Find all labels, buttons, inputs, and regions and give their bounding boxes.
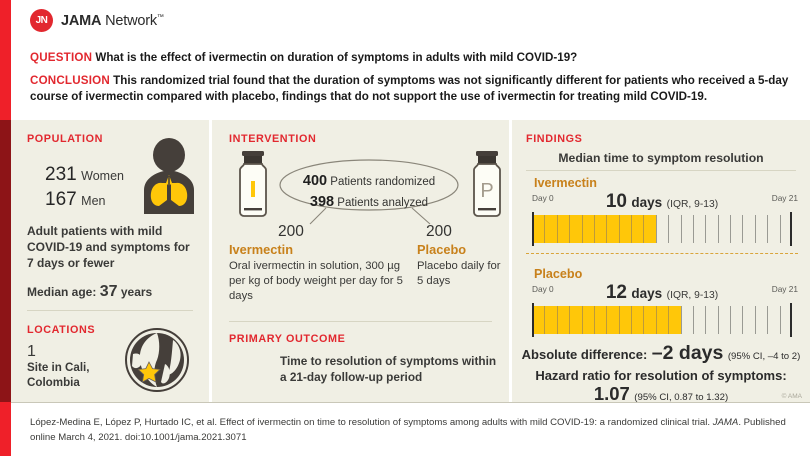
chart-day-segment [718,215,730,243]
conclusion-text: This randomized trial found that the dur… [30,74,788,103]
hazard-ratio-label: Hazard ratio for resolution of symptoms: [512,368,810,383]
placebo-arm-description: Placebo daily for 5 days [417,259,509,289]
svg-text:P: P [480,180,493,202]
population-divider [27,310,193,311]
absolute-difference-row: Absolute difference: –2 days (95% CI, –4… [512,342,810,365]
placebo-unit-label: days [631,286,662,301]
findings-divider [526,170,796,171]
chart-day-segment [693,215,705,243]
chart-day-segment [705,215,717,243]
absolute-difference-label: Absolute difference: [522,347,648,362]
women-count: 231 [45,164,77,185]
placebo-arm-name: Placebo [417,242,466,257]
absolute-difference-ci: (95% CI, –4 to 2) [728,351,801,362]
left-accent-bar-middle [0,120,11,402]
chart-day-segment [742,306,754,334]
chart-day-segment [606,306,618,334]
chart-placebo-bar-area [532,306,792,334]
left-accent-bar-top [0,0,11,120]
chart-placebo-labels: Day 0 Day 21 12 days (IQR, 9-13) [526,284,798,298]
randomized-row: 400 Patients randomized [278,171,460,192]
primary-outcome-text: Time to resolution of symptoms within a … [280,354,500,386]
randomization-counts: 400 Patients randomized 398 Patients ana… [278,171,460,212]
chart-day-segment [582,306,594,334]
locations-site-text: Site in Cali, Colombia [27,360,123,390]
chart-ivermectin-value-label: 10 days (IQR, 9-13) [526,191,798,213]
placebo-median-value: 12 [606,282,627,303]
chart-day-segment [755,306,767,334]
chart-ivermectin-labels: Day 0 Day 21 10 days (IQR, 9-13) [526,193,798,207]
ivermectin-arm-description: Oral ivermectin in solution, 300 µg per … [229,259,409,304]
chart-day-segment [767,215,779,243]
men-count-row: 167 Men [45,189,124,211]
vial-placebo-icon: P [469,150,505,217]
chart-day-segment [619,215,631,243]
randomized-count: 400 [303,173,327,189]
chart-day-segment [693,306,705,334]
primary-outcome-heading: PRIMARY OUTCOME [229,333,345,345]
men-count: 167 [45,189,77,210]
chart-day-segment [594,215,606,243]
placebo-arm-n: 200 [426,223,452,241]
chart-series-label-ivermectin: Ivermectin [534,176,597,190]
randomization-ellipse: 400 Patients randomized 398 Patients ana… [278,158,460,212]
jama-network-logo[interactable]: JN JAMA Network™ [30,9,164,32]
question-text: What is the effect of ivermectin on dura… [95,51,577,64]
chart-day-segment [569,215,581,243]
absolute-difference-value: –2 days [652,342,724,364]
axis-endcap-start [532,303,534,337]
chart-ivermectin-bar-area [532,215,792,243]
median-age-unit: years [121,285,152,299]
trademark-symbol: ™ [157,14,164,21]
chart-day-segment [668,306,680,334]
intervention-divider [229,321,492,322]
randomized-label: Patients randomized [330,176,435,188]
chart-day-segment [606,215,618,243]
findings-heading: FINDINGS [526,133,582,145]
footer: López-Medina E, López P, Hurtado IC, et … [11,402,810,456]
conclusion-keyword: CONCLUSION [30,74,110,87]
chart-day-segment [643,215,655,243]
chart-day-segment [631,306,643,334]
copyright-notice: © AMA [782,393,802,400]
ivermectin-unit-label: days [631,195,662,210]
chart-day-segment [767,306,779,334]
women-count-row: 231 Women [45,164,124,186]
person-lungs-icon [135,138,203,216]
logo-jama-text: JAMA [61,13,101,29]
jn-logo-mark: JN [30,9,53,32]
chart-ivermectin: Day 0 Day 21 10 days (IQR, 9-13) [526,193,798,245]
chart-day-segment [656,215,668,243]
intervention-panel: INTERVENTION P [212,120,509,402]
men-label: Men [81,194,105,208]
chart-series-label-placebo: Placebo [534,267,582,281]
chart-day-segment [557,215,569,243]
chart-day-segment [656,306,668,334]
header: JN JAMA Network™ QUESTION What is the ef… [11,0,810,120]
left-accent-bar-bottom [0,402,11,456]
hazard-ratio-block: Hazard ratio for resolution of symptoms:… [512,368,810,405]
logo-network-text: Network [101,13,157,29]
median-age-value: 37 [100,283,118,300]
ivermectin-arm-n: 200 [278,223,304,241]
question-line: QUESTION What is the effect of ivermecti… [30,50,805,66]
chart-day-segment [619,306,631,334]
chart-day-segment [742,215,754,243]
population-heading: POPULATION [27,133,103,145]
chart-day-segment [594,306,606,334]
placebo-iqr-label: (IQR, 9-13) [667,290,719,301]
chart-day-segment [643,306,655,334]
content-columns: POPULATION 231 Women 167 M [11,120,810,402]
locations-heading: LOCATIONS [27,324,95,336]
findings-dashed-separator [526,253,798,254]
chart-day-segment [755,215,767,243]
women-label: Women [81,169,124,183]
chart-day-segment [730,215,742,243]
median-age-label: Median age: [27,285,96,299]
median-age-row: Median age: 37 years [27,283,152,301]
ivermectin-iqr-label: (IQR, 9-13) [667,199,719,210]
chart-placebo: Day 0 Day 21 12 days (IQR, 9-13) [526,284,798,336]
population-description: Adult patients with mild COVID-19 and sy… [27,224,197,272]
analyzed-count: 398 [310,194,334,210]
hazard-ratio-value: 1.07 [594,383,630,404]
ivermectin-arm-name: Ivermectin [229,242,293,257]
jama-visual-abstract: JN JAMA Network™ QUESTION What is the ef… [0,0,810,456]
question-keyword: QUESTION [30,51,92,64]
chart-placebo-value-label: 12 days (IQR, 9-13) [526,282,798,304]
ivermectin-median-value: 10 [606,191,627,212]
analyzed-label: Patients analyzed [337,197,428,209]
chart-day-segment [631,215,643,243]
conclusion-line: CONCLUSION This randomized trial found t… [30,73,805,105]
axis-endcap-start [532,212,534,246]
citation-journal: JAMA [713,417,739,428]
chart-day-segment [681,215,693,243]
citation-line1: López-Medina E, López P, Hurtado IC, et … [30,417,710,428]
chart-day-segment [544,306,556,334]
findings-panel: FINDINGS Median time to symptom resoluti… [512,120,810,402]
chart-day-segment [557,306,569,334]
globe-icon [123,326,191,394]
population-panel: POPULATION 231 Women 167 M [11,120,209,402]
jama-network-wordmark: JAMA Network™ [61,13,164,29]
vial-ivermectin-icon [235,150,271,217]
analyzed-row: 398 Patients analyzed [278,192,460,213]
chart-day-segment [569,306,581,334]
chart-day-segment [681,306,693,334]
citation: López-Medina E, López P, Hurtado IC, et … [30,416,800,446]
findings-subtitle: Median time to symptom resolution [512,151,810,165]
chart-day-segment [544,215,556,243]
axis-endcap-end [790,303,792,337]
chart-day-segment [668,215,680,243]
axis-endcap-end [790,212,792,246]
chart-day-segment [730,306,742,334]
chart-day-segment [705,306,717,334]
population-counts: 231 Women 167 Men [45,164,124,214]
intervention-heading: INTERVENTION [229,133,316,145]
chart-day-segment [582,215,594,243]
chart-day-segment [718,306,730,334]
locations-count: 1 [27,343,36,361]
